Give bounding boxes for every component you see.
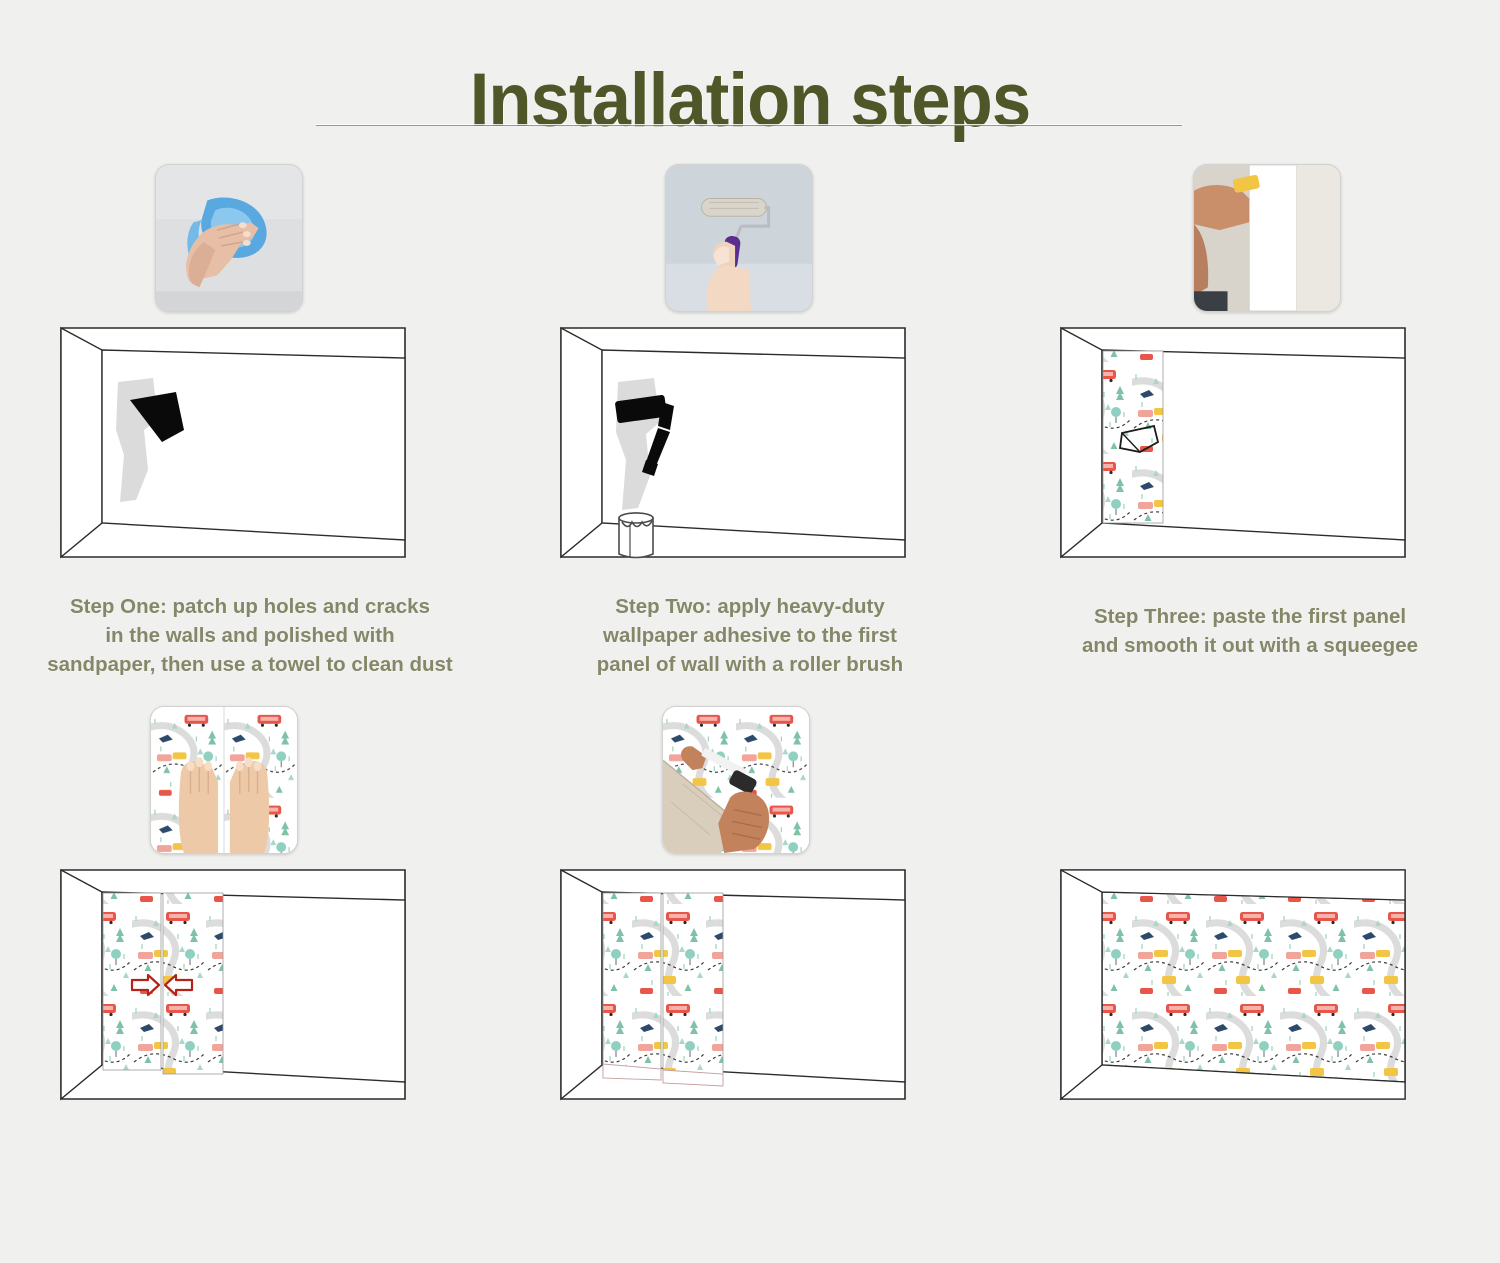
two-hands-smoothing-wallpaper-photo — [150, 706, 298, 854]
step-four-illustration — [58, 812, 408, 1102]
hand-with-roller-brush-photo — [665, 164, 813, 312]
step-one-illustration — [58, 270, 408, 560]
steps-grid: Step One: patch up holes and cracks in t… — [0, 150, 1500, 1234]
step-three-caption: Step Three: paste the first panel and sm… — [1000, 602, 1500, 660]
step-five-illustration — [558, 812, 908, 1102]
title-divider — [316, 124, 1182, 126]
step-three-illustration — [1058, 270, 1408, 560]
step-two-illustration — [558, 270, 908, 560]
step-card-two: Step Two: apply heavy-duty wallpaper adh… — [500, 150, 1000, 692]
hand-with-blue-cloth-photo — [155, 164, 303, 312]
step-card-five: Step Five: Use a knife or a pair of scis… — [500, 692, 1000, 1234]
step-six-illustration — [1058, 812, 1408, 1102]
page-title: Installation steps — [53, 57, 1448, 144]
installation-steps-page: Installation steps — [0, 0, 1500, 1263]
step-card-one: Step One: patch up holes and cracks in t… — [0, 150, 500, 692]
step-card-three: Step Three: paste the first panel and sm… — [1000, 150, 1500, 692]
arm-with-yellow-squeegee-photo — [1193, 164, 1341, 312]
step-one-caption: Step One: patch up holes and cracks in t… — [0, 592, 500, 679]
step-card-four: Step Four: slowly slide the second panel… — [0, 692, 500, 1234]
step-two-caption: Step Two: apply heavy-duty wallpaper adh… — [500, 592, 1000, 679]
hand-cutting-wallpaper-with-knife-photo — [662, 706, 810, 854]
step-card-six: Step Six:In accordance with the above st… — [1000, 692, 1500, 1234]
